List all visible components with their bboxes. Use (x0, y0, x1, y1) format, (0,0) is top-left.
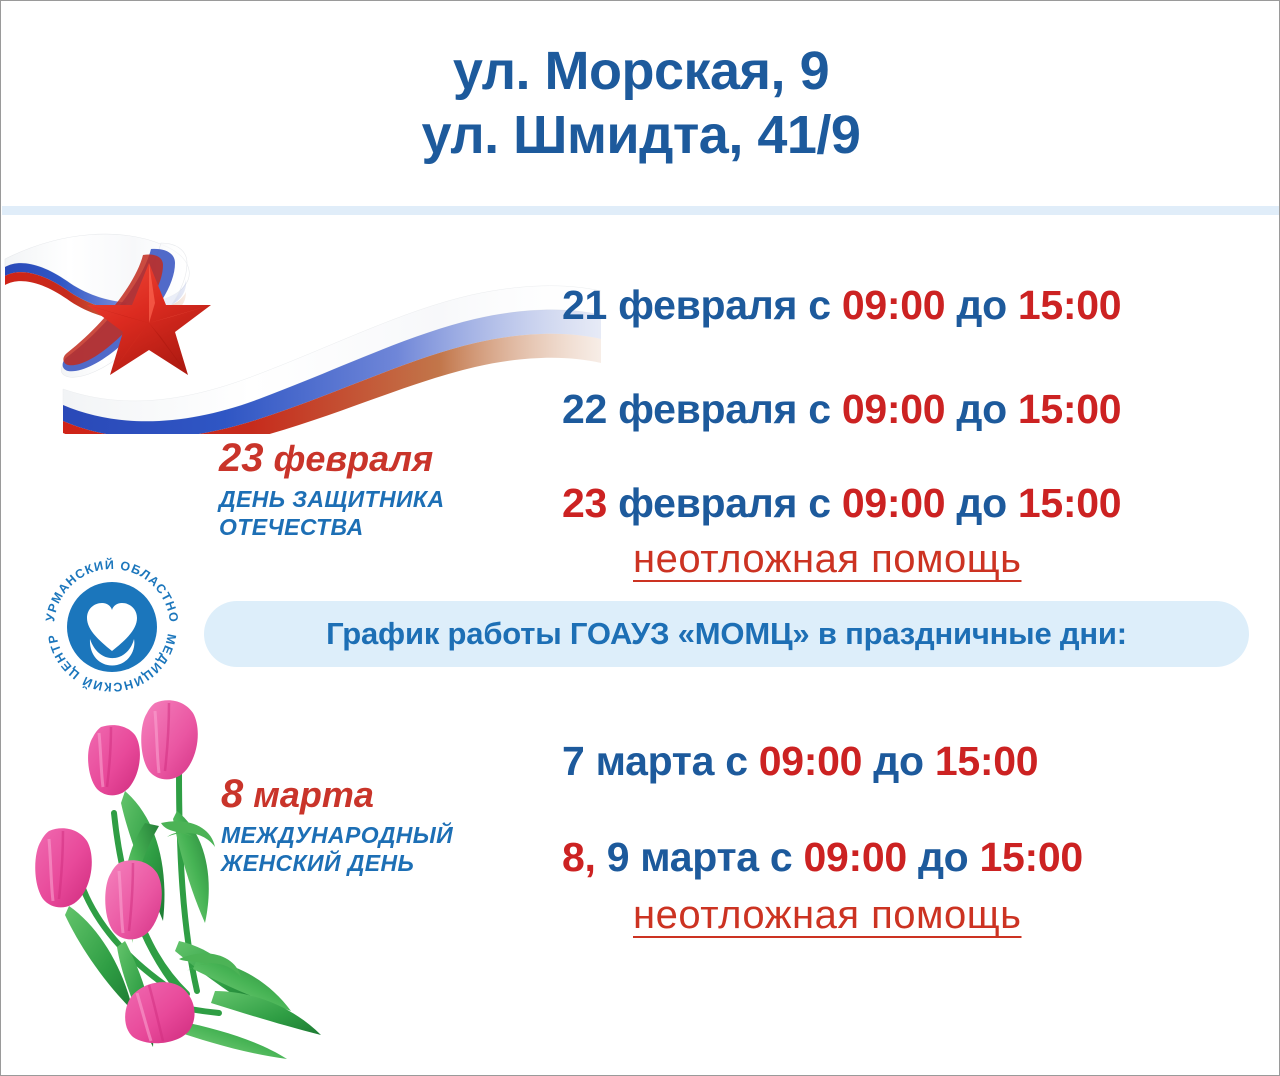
schedule-line-mar-89: 8, 9 марта с 09:00 до 15:00 (562, 837, 1083, 878)
schedule-to-label: до (873, 738, 923, 784)
holiday-subtitle-february-line1: ДЕНЬ ЗАЩИТНИКА (219, 485, 444, 513)
schedule-from-label: с (808, 480, 831, 526)
schedule-day: 23 (562, 480, 607, 526)
holiday-month-march: марта (253, 774, 374, 815)
header-divider (2, 206, 1280, 215)
schedule-to-label: до (956, 386, 1006, 432)
schedule-month: марта (640, 834, 758, 880)
holiday-day-march: 8 (221, 772, 243, 816)
schedule-to-time: 15:00 (1018, 386, 1121, 432)
schedule-day: 9 (607, 834, 630, 880)
schedule-to-time: 15:00 (1018, 480, 1121, 526)
schedule-from-time: 09:00 (759, 738, 862, 784)
schedule-banner: График работы ГОАУЗ «МОМЦ» в праздничные… (204, 601, 1249, 667)
schedule-month: марта (596, 738, 714, 784)
schedule-from-time: 09:00 (842, 386, 945, 432)
schedule-to-label: до (956, 282, 1006, 328)
holiday-date-march: 8 марта (221, 773, 453, 815)
schedule-from-label: с (808, 282, 831, 328)
schedule-line-feb-22: 22 февраля с 09:00 до 15:00 (562, 389, 1121, 430)
holiday-caption-march: 8 марта МЕЖДУНАРОДНЫЙ ЖЕНСКИЙ ДЕНЬ (221, 773, 453, 877)
tulip (88, 725, 140, 795)
tulip (35, 828, 92, 907)
schedule-line-mar-07: 7 марта с 09:00 до 15:00 (562, 741, 1038, 782)
russian-tricolor-ribbon-icon (1, 219, 601, 434)
schedule-from-time: 09:00 (803, 834, 906, 880)
holiday-subtitle-march: МЕЖДУНАРОДНЫЙ ЖЕНСКИЙ ДЕНЬ (221, 821, 453, 877)
address-line-2: ул. Шмидта, 41/9 (422, 104, 861, 168)
holiday-date-february: 23 февраля (219, 437, 444, 479)
schedule-month: февраля (618, 386, 797, 432)
holiday-subtitle-march-line1: МЕЖДУНАРОДНЫЙ (221, 821, 453, 849)
logo: МУРМАНСКИЙ ОБЛАСТНОЙ МЕДИЦИНСКИЙ ЦЕНТР (37, 553, 187, 695)
schedule-from-label: с (808, 386, 831, 432)
schedule-banner-text: График работы ГОАУЗ «МОМЦ» в праздничные… (326, 616, 1127, 652)
tulip (141, 700, 198, 779)
holiday-month-february: февраля (274, 438, 434, 479)
schedule-from-time: 09:00 (842, 480, 945, 526)
tulip (105, 860, 162, 939)
schedule-day: 7 (562, 738, 585, 784)
urgent-care-note-march: неотложная помощь (633, 895, 1022, 935)
holiday-subtitle-february: ДЕНЬ ЗАЩИТНИКА ОТЕЧЕСТВА (219, 485, 444, 541)
schedule-day: 22 (562, 386, 607, 432)
schedule-to-time: 15:00 (935, 738, 1038, 784)
schedule-day-red: 8, (562, 834, 596, 880)
schedule-from-time: 09:00 (842, 282, 945, 328)
schedule-to-label: до (918, 834, 968, 880)
schedule-from-label: с (725, 738, 748, 784)
holiday-subtitle-february-line2: ОТЕЧЕСТВА (219, 513, 444, 541)
schedule-to-time: 15:00 (1018, 282, 1121, 328)
header: ул. Морская, 9 ул. Шмидта, 41/9 (1, 1, 1280, 206)
poster-page: ул. Морская, 9 ул. Шмидта, 41/9 (0, 0, 1280, 1076)
schedule-from-label: с (770, 834, 793, 880)
schedule-day: 21 (562, 282, 607, 328)
address-line-1: ул. Морская, 9 (453, 40, 829, 104)
holiday-subtitle-march-line2: ЖЕНСКИЙ ДЕНЬ (221, 849, 453, 877)
schedule-to-time: 15:00 (980, 834, 1083, 880)
holiday-day-february: 23 (219, 436, 264, 480)
tulip (125, 982, 194, 1043)
schedule-line-feb-23: 23 февраля с 09:00 до 15:00 (562, 483, 1121, 524)
schedule-month: февраля (618, 282, 797, 328)
urgent-care-note-february: неотложная помощь (633, 539, 1022, 579)
schedule-month: февраля (618, 480, 797, 526)
schedule-to-label: до (956, 480, 1006, 526)
schedule-line-feb-21: 21 февраля с 09:00 до 15:00 (562, 285, 1121, 326)
holiday-caption-february: 23 февраля ДЕНЬ ЗАЩИТНИКА ОТЕЧЕСТВА (219, 437, 444, 541)
